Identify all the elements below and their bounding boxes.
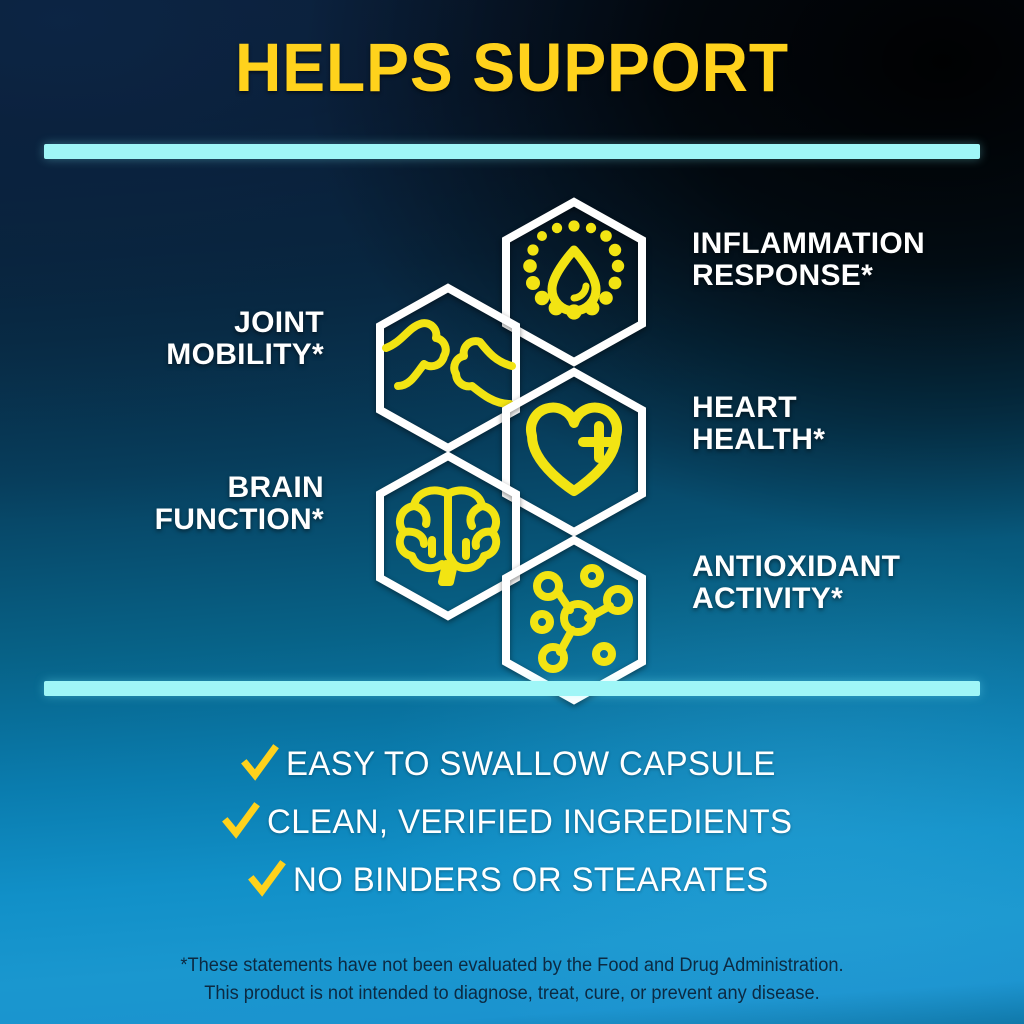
disclaimer-line-1: *These statements have not been evaluate… [20,952,1003,980]
list-item: NO BINDERS OR STEARATES [0,851,1024,909]
feature-checklist: EASY TO SWALLOW CAPSULE CLEAN, VERIFIED … [0,735,1024,909]
check-icon [234,747,286,781]
fda-disclaimer: *These statements have not been evaluate… [20,952,1003,1007]
benefit-label-heart: HEART HEALTH* [692,392,825,456]
checklist-text: NO BINDERS OR STEARATES [293,861,769,900]
checklist-text: CLEAN, VERIFIED INGREDIENTS [267,803,792,842]
disclaimer-line-2: This product is not intended to diagnose… [20,980,1003,1008]
check-icon [241,863,293,897]
checklist-text: EASY TO SWALLOW CAPSULE [286,745,776,784]
heart-plus-icon [531,408,617,491]
benefit-label-antioxidant: ANTIOXIDANT ACTIVITY* [692,551,900,615]
brain-icon [400,490,496,582]
divider-top [44,144,980,159]
page-title: HELPS SUPPORT [36,33,988,102]
list-item: CLEAN, VERIFIED INGREDIENTS [0,793,1024,851]
list-item: EASY TO SWALLOW CAPSULE [0,735,1024,793]
product-infographic: HELPS SUPPORT [0,0,1024,1024]
benefit-label-inflammation: INFLAMMATION RESPONSE* [692,228,925,292]
benefit-label-brain: BRAIN FUNCTION* [155,472,324,536]
divider-bottom [44,681,980,696]
benefit-label-joint: JOINT MOBILITY* [166,307,324,371]
molecule-icon [534,568,629,669]
bone-joint-icon [386,323,512,404]
check-icon [215,805,267,839]
droplet-inflammation-icon [523,220,624,319]
